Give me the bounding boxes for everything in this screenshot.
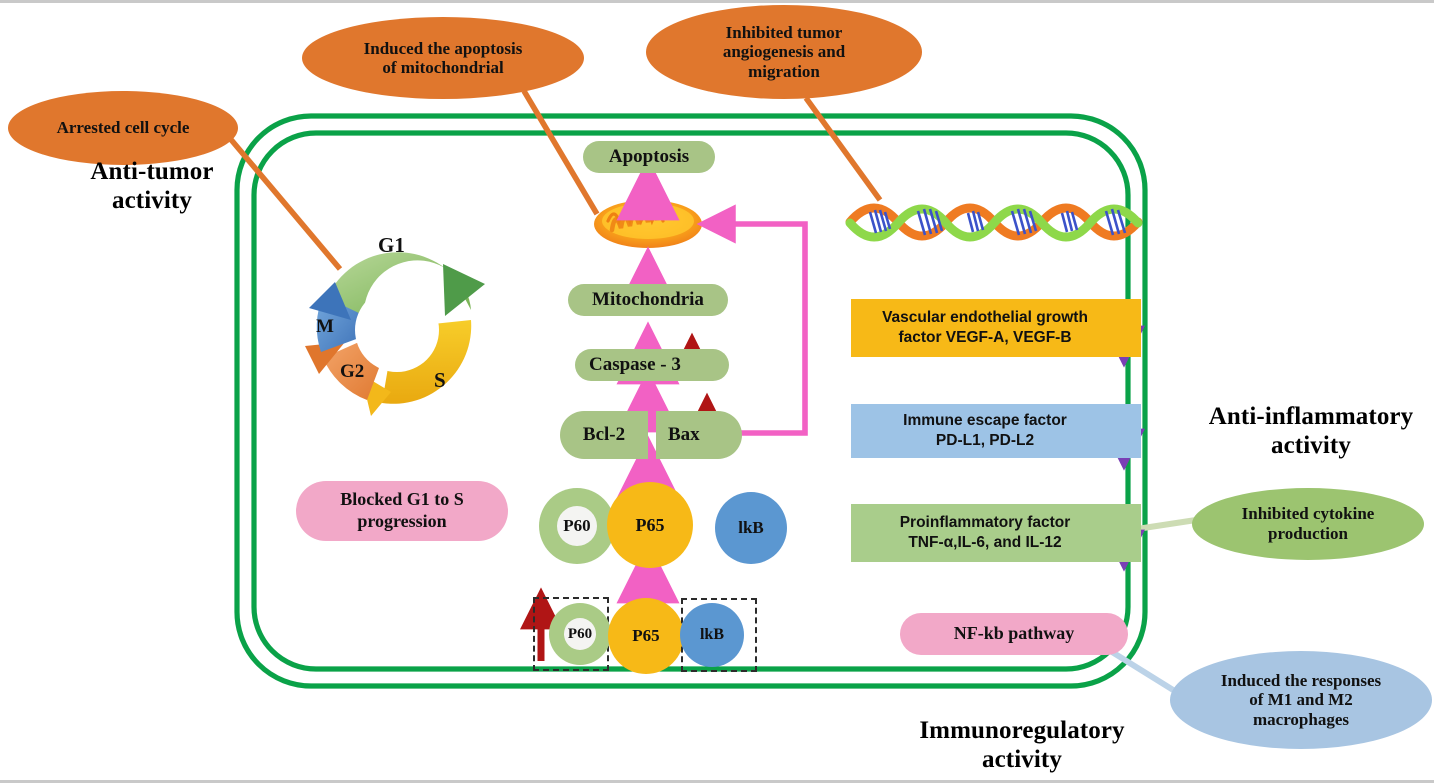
nfkb-bottom-p65[interactable]: P65 [608,598,684,674]
callout-inhibited-cytokine-line1: Inhibited cytokine [1242,504,1375,524]
heading-immunoregulatory: Immunoregulatory activity [898,717,1146,774]
connector-inhibited-angiogenesis [806,98,880,200]
heading-anti-inflammatory-line2: activity [1188,432,1434,461]
node-caspase-3[interactable]: Caspase - 3 [575,349,729,381]
nfkb-bottom-p65-label: P65 [632,626,659,646]
nfkb-bottom-ikb[interactable]: lkB [680,603,744,667]
nfkb-bottom-p60[interactable]: P60 [549,603,611,665]
callout-inhibited-angiogenesis-line1: Inhibited tumor [726,23,843,42]
arrow-bax-to-mitochondrion [710,224,805,433]
factor-bar-pdl[interactable]: Immune escape factor PD-L1, PD-L2 [851,404,1141,458]
callout-inhibited-cytokine[interactable]: Inhibited cytokine production [1192,488,1424,560]
node-bax-label: Bax [668,424,700,446]
label-blocked-g1-s-line1: Blocked G1 to S [340,489,464,511]
nfkb-bottom-p60-label: P60 [568,626,592,643]
mitochondrion-icon [594,200,702,248]
node-bcl-2-label: Bcl-2 [583,424,625,446]
callout-inhibited-angiogenesis[interactable]: Inhibited tumor angiogenesis and migrati… [646,5,922,99]
cell-cycle-label-m: M [316,316,334,338]
label-blocked-g1-s[interactable]: Blocked G1 to S progression [296,481,508,541]
callout-induced-apoptosis-line2: of mitochondrial [382,58,503,77]
nfkb-bottom-ikb-label: lkB [700,626,724,644]
heading-anti-tumor-line2: activity [52,187,252,216]
node-apoptosis[interactable]: Apoptosis [583,141,715,173]
nfkb-top-p65-label: P65 [636,515,665,536]
factor-bar-pdl-text: Immune escape factor PD-L1, PD-L2 [903,411,1089,451]
callout-arrested-cell-cycle-label: Arrested cell cycle [57,118,190,137]
nfkb-top-ikb[interactable]: lkB [715,492,787,564]
node-mitochondria[interactable]: Mitochondria [568,284,728,316]
figure-canvas: Arrested cell cycle Induced the apoptosi… [0,0,1434,783]
label-nf-kb-pathway-text: NF-kb pathway [954,623,1075,645]
connector-induced-macrophages [1104,647,1178,693]
callout-inhibited-cytokine-line2: production [1268,524,1348,544]
nfkb-top-p65[interactable]: P65 [607,482,693,568]
callout-induced-apoptosis-line1: Induced the apoptosis [364,39,523,58]
callout-inhibited-angiogenesis-line2: angiogenesis and [723,42,845,61]
callout-induced-apoptosis[interactable]: Induced the apoptosis of mitochondrial [302,17,584,99]
label-nf-kb-pathway[interactable]: NF-kb pathway [900,613,1128,655]
callout-inhibited-angiogenesis-line3: migration [748,62,820,81]
dna-helix-icon [850,208,1138,237]
factor-bar-vegf-line1: Vascular endothelial growth [882,308,1088,328]
factor-bar-proinflammatory-line2: TNF-α,IL-6, and IL-12 [900,533,1071,553]
callout-arrested-cell-cycle[interactable]: Arrested cell cycle [8,91,238,165]
heading-anti-inflammatory-line1: Anti-inflammatory [1188,403,1434,432]
label-blocked-g1-s-line2: progression [357,511,446,533]
callout-induced-macrophages-line1: Induced the responses [1221,671,1381,691]
heading-anti-inflammatory: Anti-inflammatory activity [1188,403,1434,460]
heading-immunoregulatory-line1: Immunoregulatory [898,717,1146,746]
node-mitochondria-label: Mitochondria [592,289,704,311]
factor-bar-proinflammatory[interactable]: Proinflammatory factor TNF-α,IL-6, and I… [851,504,1141,562]
factor-bar-vegf-line2: factor VEGF-A, VEGF-B [882,328,1088,348]
factor-bar-proinflammatory-line1: Proinflammatory factor [900,513,1071,533]
nfkb-top-p60-label: P60 [563,516,590,536]
nfkb-top-ikb-label: lkB [738,518,764,538]
heading-anti-tumor-line1: Anti-tumor [52,158,252,187]
cell-cycle-label-s: S [434,368,446,393]
node-caspase-3-label: Caspase - 3 [589,354,681,376]
callout-induced-macrophages[interactable]: Induced the responses of M1 and M2 macro… [1170,651,1432,749]
factor-bar-vegf-text: Vascular endothelial growth factor VEGF-… [882,308,1110,348]
factor-bar-vegf[interactable]: Vascular endothelial growth factor VEGF-… [851,299,1141,357]
cell-cycle-label-g2: G2 [340,361,364,383]
node-bax[interactable]: Bax [656,411,742,459]
node-apoptosis-label: Apoptosis [609,146,689,168]
heading-anti-tumor: Anti-tumor activity [52,158,252,215]
cell-cycle-label-g1: G1 [378,233,405,258]
factor-bar-pdl-line1: Immune escape factor [903,411,1067,431]
heading-immunoregulatory-line2: activity [898,746,1146,775]
nfkb-top-p60[interactable]: P60 [539,488,615,564]
callout-induced-macrophages-line2: of M1 and M2 [1249,690,1352,710]
factor-bar-proinflammatory-text: Proinflammatory factor TNF-α,IL-6, and I… [900,513,1093,553]
callout-induced-macrophages-line3: macrophages [1253,710,1349,730]
factor-bar-pdl-line2: PD-L1, PD-L2 [903,431,1067,451]
node-bcl-2[interactable]: Bcl-2 [560,411,648,459]
